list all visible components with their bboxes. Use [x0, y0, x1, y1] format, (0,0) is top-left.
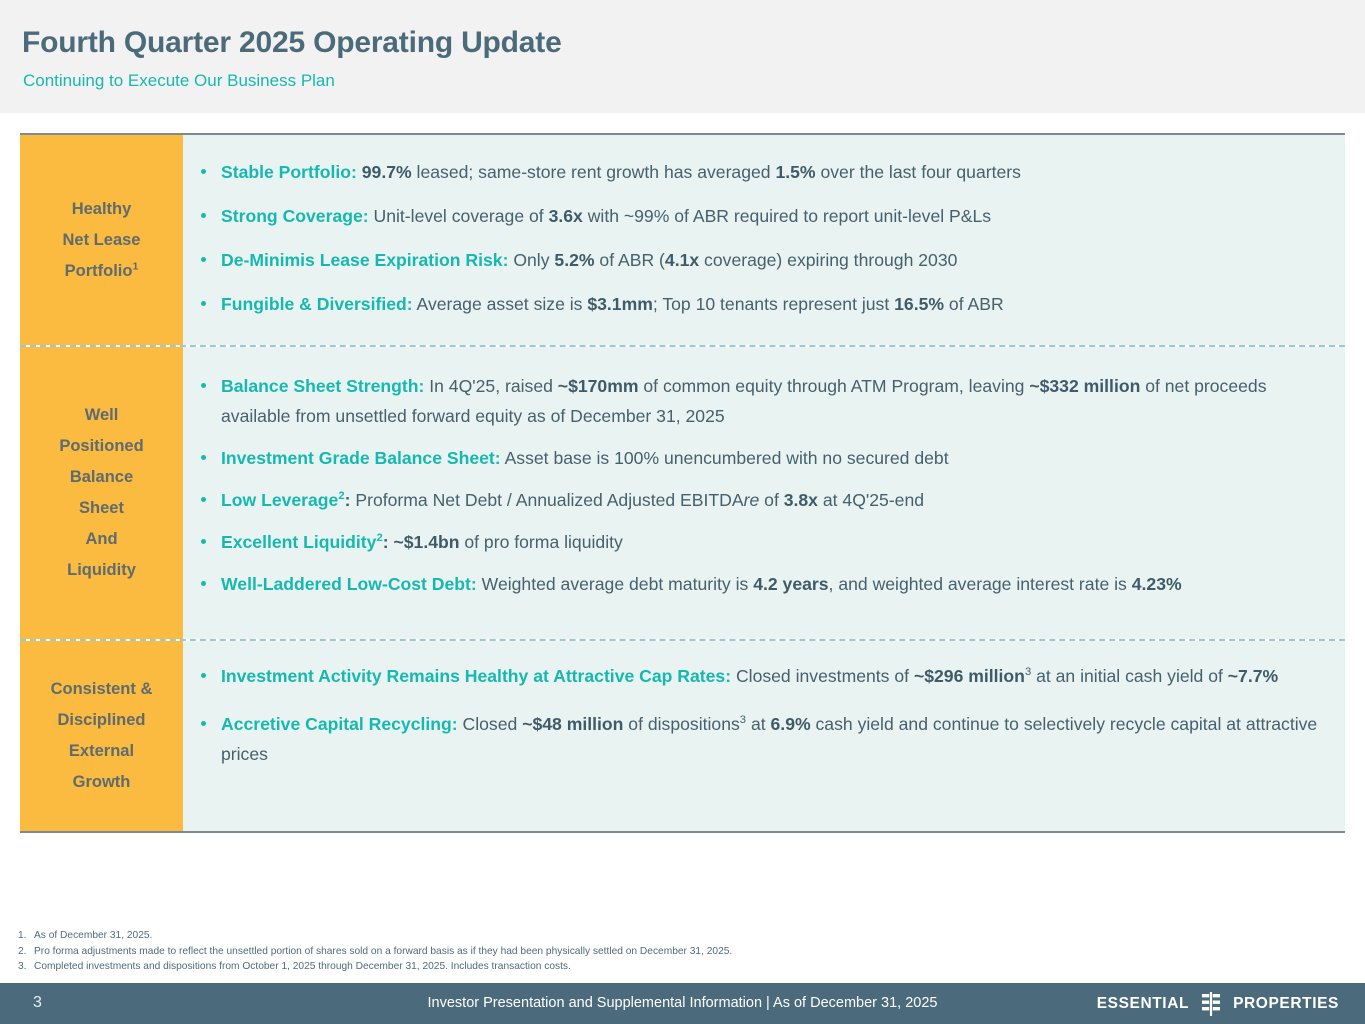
bullet-dot-icon [201, 497, 206, 502]
matrix-row-label: Consistent &DisciplinedExternalGrowth [20, 641, 183, 831]
bullet-lead: Fungible & Diversified: [221, 294, 413, 314]
bullet-text-run: at an initial cash yield of [1031, 666, 1228, 686]
bullet-lead: Low Leverage2 [221, 490, 345, 510]
bullet-lead: Stable Portfolio: [221, 162, 357, 182]
bullet-lead: Excellent Liquidity2 [221, 532, 383, 552]
bullet-lead: De-Minimis Lease Expiration Risk: [221, 250, 508, 270]
matrix-row-content: Stable Portfolio: 99.7% leased; same-sto… [183, 135, 1345, 345]
bullet-text-run: of common equity through ATM Program, le… [639, 376, 1030, 396]
matrix-row: Consistent &DisciplinedExternalGrowthInv… [20, 639, 1345, 831]
bullet-dot-icon [201, 581, 206, 586]
bullet-lead: Well-Laddered Low-Cost Debt: [221, 574, 477, 594]
bullet-item: Fungible & Diversified: Average asset si… [183, 289, 1331, 319]
bullet-text-run: of [759, 490, 783, 510]
matrix-row-content: Investment Activity Remains Healthy at A… [183, 641, 1345, 831]
bullet-text-run: 4.1x [665, 250, 699, 270]
bullet-text-run: , and weighted average interest rate is [829, 574, 1132, 594]
bullet-item: Investment Grade Balance Sheet: Asset ba… [183, 443, 1331, 473]
footnote-item: 1.As of December 31, 2025. [18, 928, 1018, 944]
bullet-text-run: ; Top 10 tenants represent just [653, 294, 894, 314]
page-subtitle: Continuing to Execute Our Business Plan [23, 71, 335, 91]
bullet-item: De-Minimis Lease Expiration Risk: Only 5… [183, 245, 1331, 275]
bullet-dot-icon [201, 455, 206, 460]
bullet-dot-icon [201, 383, 206, 388]
matrix-row: HealthyNet LeasePortfolio1Stable Portfol… [20, 135, 1345, 345]
bullet-dot-icon [201, 721, 206, 726]
bullet-text-run: $3.1mm [587, 294, 653, 314]
bullet-text-run: Average asset size is [413, 294, 588, 314]
bullet-text-run: over the last four quarters [816, 162, 1021, 182]
bullet-text-run: ~$1.4bn [393, 532, 459, 552]
bullet-text-run: 99.7% [362, 162, 412, 182]
bullet-lead: Investment Grade Balance Sheet: [221, 448, 501, 468]
bullet-text-run: of ABR [944, 294, 1004, 314]
bullet-text-run: Closed investments of [731, 666, 914, 686]
bullet-dot-icon [201, 301, 206, 306]
footnotes: 1.As of December 31, 2025.2.Pro forma ad… [18, 928, 1018, 975]
bullet-text-run: at [746, 714, 770, 734]
bullet-text-run: Asset base is 100% unencumbered with no … [501, 448, 949, 468]
bullet-text-run: of pro forma liquidity [459, 532, 622, 552]
bullet-dot-icon [201, 169, 206, 174]
slide-footer: 3 Investor Presentation and Supplemental… [0, 983, 1365, 1024]
bullet-text-run: re [744, 490, 760, 510]
footnote-text: Pro forma adjustments made to reflect th… [34, 946, 732, 957]
bullet-lead: Balance Sheet Strength: [221, 376, 424, 396]
footnote-text: As of December 31, 2025. [34, 930, 152, 941]
company-logo: ESSENTIAL PROPERTIES [1097, 991, 1339, 1017]
bullet-text-run: ~7.7% [1228, 666, 1278, 686]
highlights-matrix: HealthyNet LeasePortfolio1Stable Portfol… [20, 133, 1345, 833]
logo-text-properties: PROPERTIES [1233, 995, 1339, 1013]
bullet-text-run: leased; same-store rent growth has avera… [412, 162, 776, 182]
bullet-dot-icon [201, 673, 206, 678]
bullet-text-run: Unit-level coverage of [369, 206, 549, 226]
matrix-row-label: WellPositionedBalanceSheetAndLiquidity [20, 347, 183, 639]
bullet-text-run: of dispositions [623, 714, 739, 734]
bullet-item: Stable Portfolio: 99.7% leased; same-sto… [183, 157, 1331, 187]
footnote-item: 2.Pro forma adjustments made to reflect … [18, 944, 1018, 960]
bullet-text-run: 3.6x [549, 206, 583, 226]
matrix-row: WellPositionedBalanceSheetAndLiquidityBa… [20, 345, 1345, 639]
bullet-text-run: 5.2% [554, 250, 594, 270]
bullet-item: Investment Activity Remains Healthy at A… [183, 661, 1331, 691]
bullet-item: Excellent Liquidity2: ~$1.4bn of pro for… [183, 527, 1331, 557]
essential-properties-monogram-icon [1198, 991, 1224, 1017]
bullet-text-run: 3.8x [784, 490, 818, 510]
bullet-text-run: of ABR ( [595, 250, 665, 270]
footnote-text: Completed investments and dispositions f… [34, 961, 571, 972]
page-title: Fourth Quarter 2025 Operating Update [22, 26, 562, 60]
bullet-text-run: coverage) expiring through 2030 [699, 250, 957, 270]
bullet-dot-icon [201, 213, 206, 218]
bullet-text-run: Only [508, 250, 554, 270]
bullet-text-run: Weighted average debt maturity is [477, 574, 753, 594]
footnote-number: 1. [18, 928, 34, 944]
bullet-text-run: Closed [458, 714, 523, 734]
bullet-dot-icon [201, 539, 206, 544]
bullet-text-run: ~$48 million [522, 714, 623, 734]
bullet-text-run: Proforma Net Debt / Annualized Adjusted … [350, 490, 743, 510]
bullet-lead: Investment Activity Remains Healthy at A… [221, 666, 731, 686]
bullet-text-run: 4.2 years [753, 574, 828, 594]
bullet-text-run: ~$332 million [1029, 376, 1140, 396]
bullet-dot-icon [201, 257, 206, 262]
slide-header: Fourth Quarter 2025 Operating Update Con… [0, 0, 1365, 113]
bullet-text-run: 4.23% [1132, 574, 1182, 594]
bullet-text-run: 6.9% [771, 714, 811, 734]
bullet-text-run: ~$170mm [558, 376, 639, 396]
bullet-text-run: ~$296 million [914, 666, 1025, 686]
matrix-row-content: Balance Sheet Strength: In 4Q'25, raised… [183, 347, 1345, 639]
bullet-text-run: In 4Q'25, raised [424, 376, 557, 396]
bullet-item: Low Leverage2: Proforma Net Debt / Annua… [183, 485, 1331, 515]
bullet-text-run: with ~99% of ABR required to report unit… [583, 206, 991, 226]
bullet-lead: Accretive Capital Recycling: [221, 714, 458, 734]
footnote-number: 3. [18, 959, 34, 975]
bullet-text-run: 1.5% [775, 162, 815, 182]
footnote-item: 3.Completed investments and dispositions… [18, 959, 1018, 975]
matrix-row-label: HealthyNet LeasePortfolio1 [20, 135, 183, 345]
bullet-text-run: at 4Q'25-end [818, 490, 924, 510]
bullet-text-run: 16.5% [894, 294, 944, 314]
footnote-number: 2. [18, 944, 34, 960]
logo-text-essential: ESSENTIAL [1097, 995, 1189, 1013]
bullet-item: Balance Sheet Strength: In 4Q'25, raised… [183, 371, 1331, 431]
bullet-item: Accretive Capital Recycling: Closed ~$48… [183, 709, 1331, 769]
bullet-lead: Strong Coverage: [221, 206, 369, 226]
bullet-item: Strong Coverage: Unit-level coverage of … [183, 201, 1331, 231]
bullet-item: Well-Laddered Low-Cost Debt: Weighted av… [183, 569, 1331, 599]
